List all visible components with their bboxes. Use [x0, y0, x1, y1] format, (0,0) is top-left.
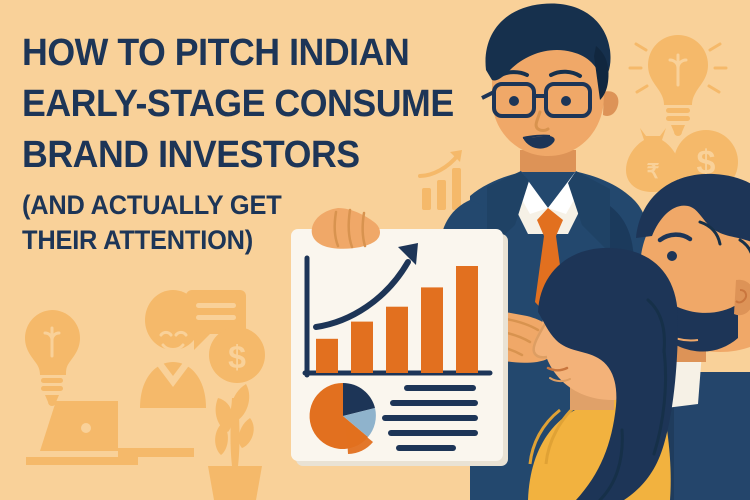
- listener-man-eye: [667, 251, 677, 261]
- presenter-right-eye: [561, 96, 571, 106]
- bar-5: [456, 266, 478, 373]
- bar-3: [386, 307, 408, 373]
- presenter-left-eye: [509, 96, 519, 106]
- bar-4: [421, 287, 443, 373]
- headline-line-1: HOW TO PITCH INDIAN: [22, 28, 464, 79]
- text-line-1: [404, 385, 476, 391]
- headline-line-3: BRAND INVESTORS: [22, 130, 464, 181]
- page-title: HOW TO PITCH INDIAN EARLY-STAGE CONSUME …: [22, 28, 492, 181]
- bar-2: [351, 322, 373, 373]
- bar-1: [316, 339, 338, 373]
- hero-illustration: ₹ $: [0, 0, 750, 500]
- text-line-5: [396, 445, 456, 451]
- text-line-4: [388, 430, 478, 436]
- subtitle-block: (AND ACTUALLY GET THEIR ATTENTION): [22, 188, 492, 258]
- text-line-2: [390, 400, 478, 406]
- subhead-line-1: (AND ACTUALLY GET: [22, 188, 464, 223]
- title-block: HOW TO PITCH INDIAN EARLY-STAGE CONSUME …: [22, 28, 492, 258]
- text-line-3: [382, 415, 478, 421]
- subhead-line-2: THEIR ATTENTION): [22, 223, 464, 258]
- headline-line-2: EARLY-STAGE CONSUME: [22, 79, 464, 130]
